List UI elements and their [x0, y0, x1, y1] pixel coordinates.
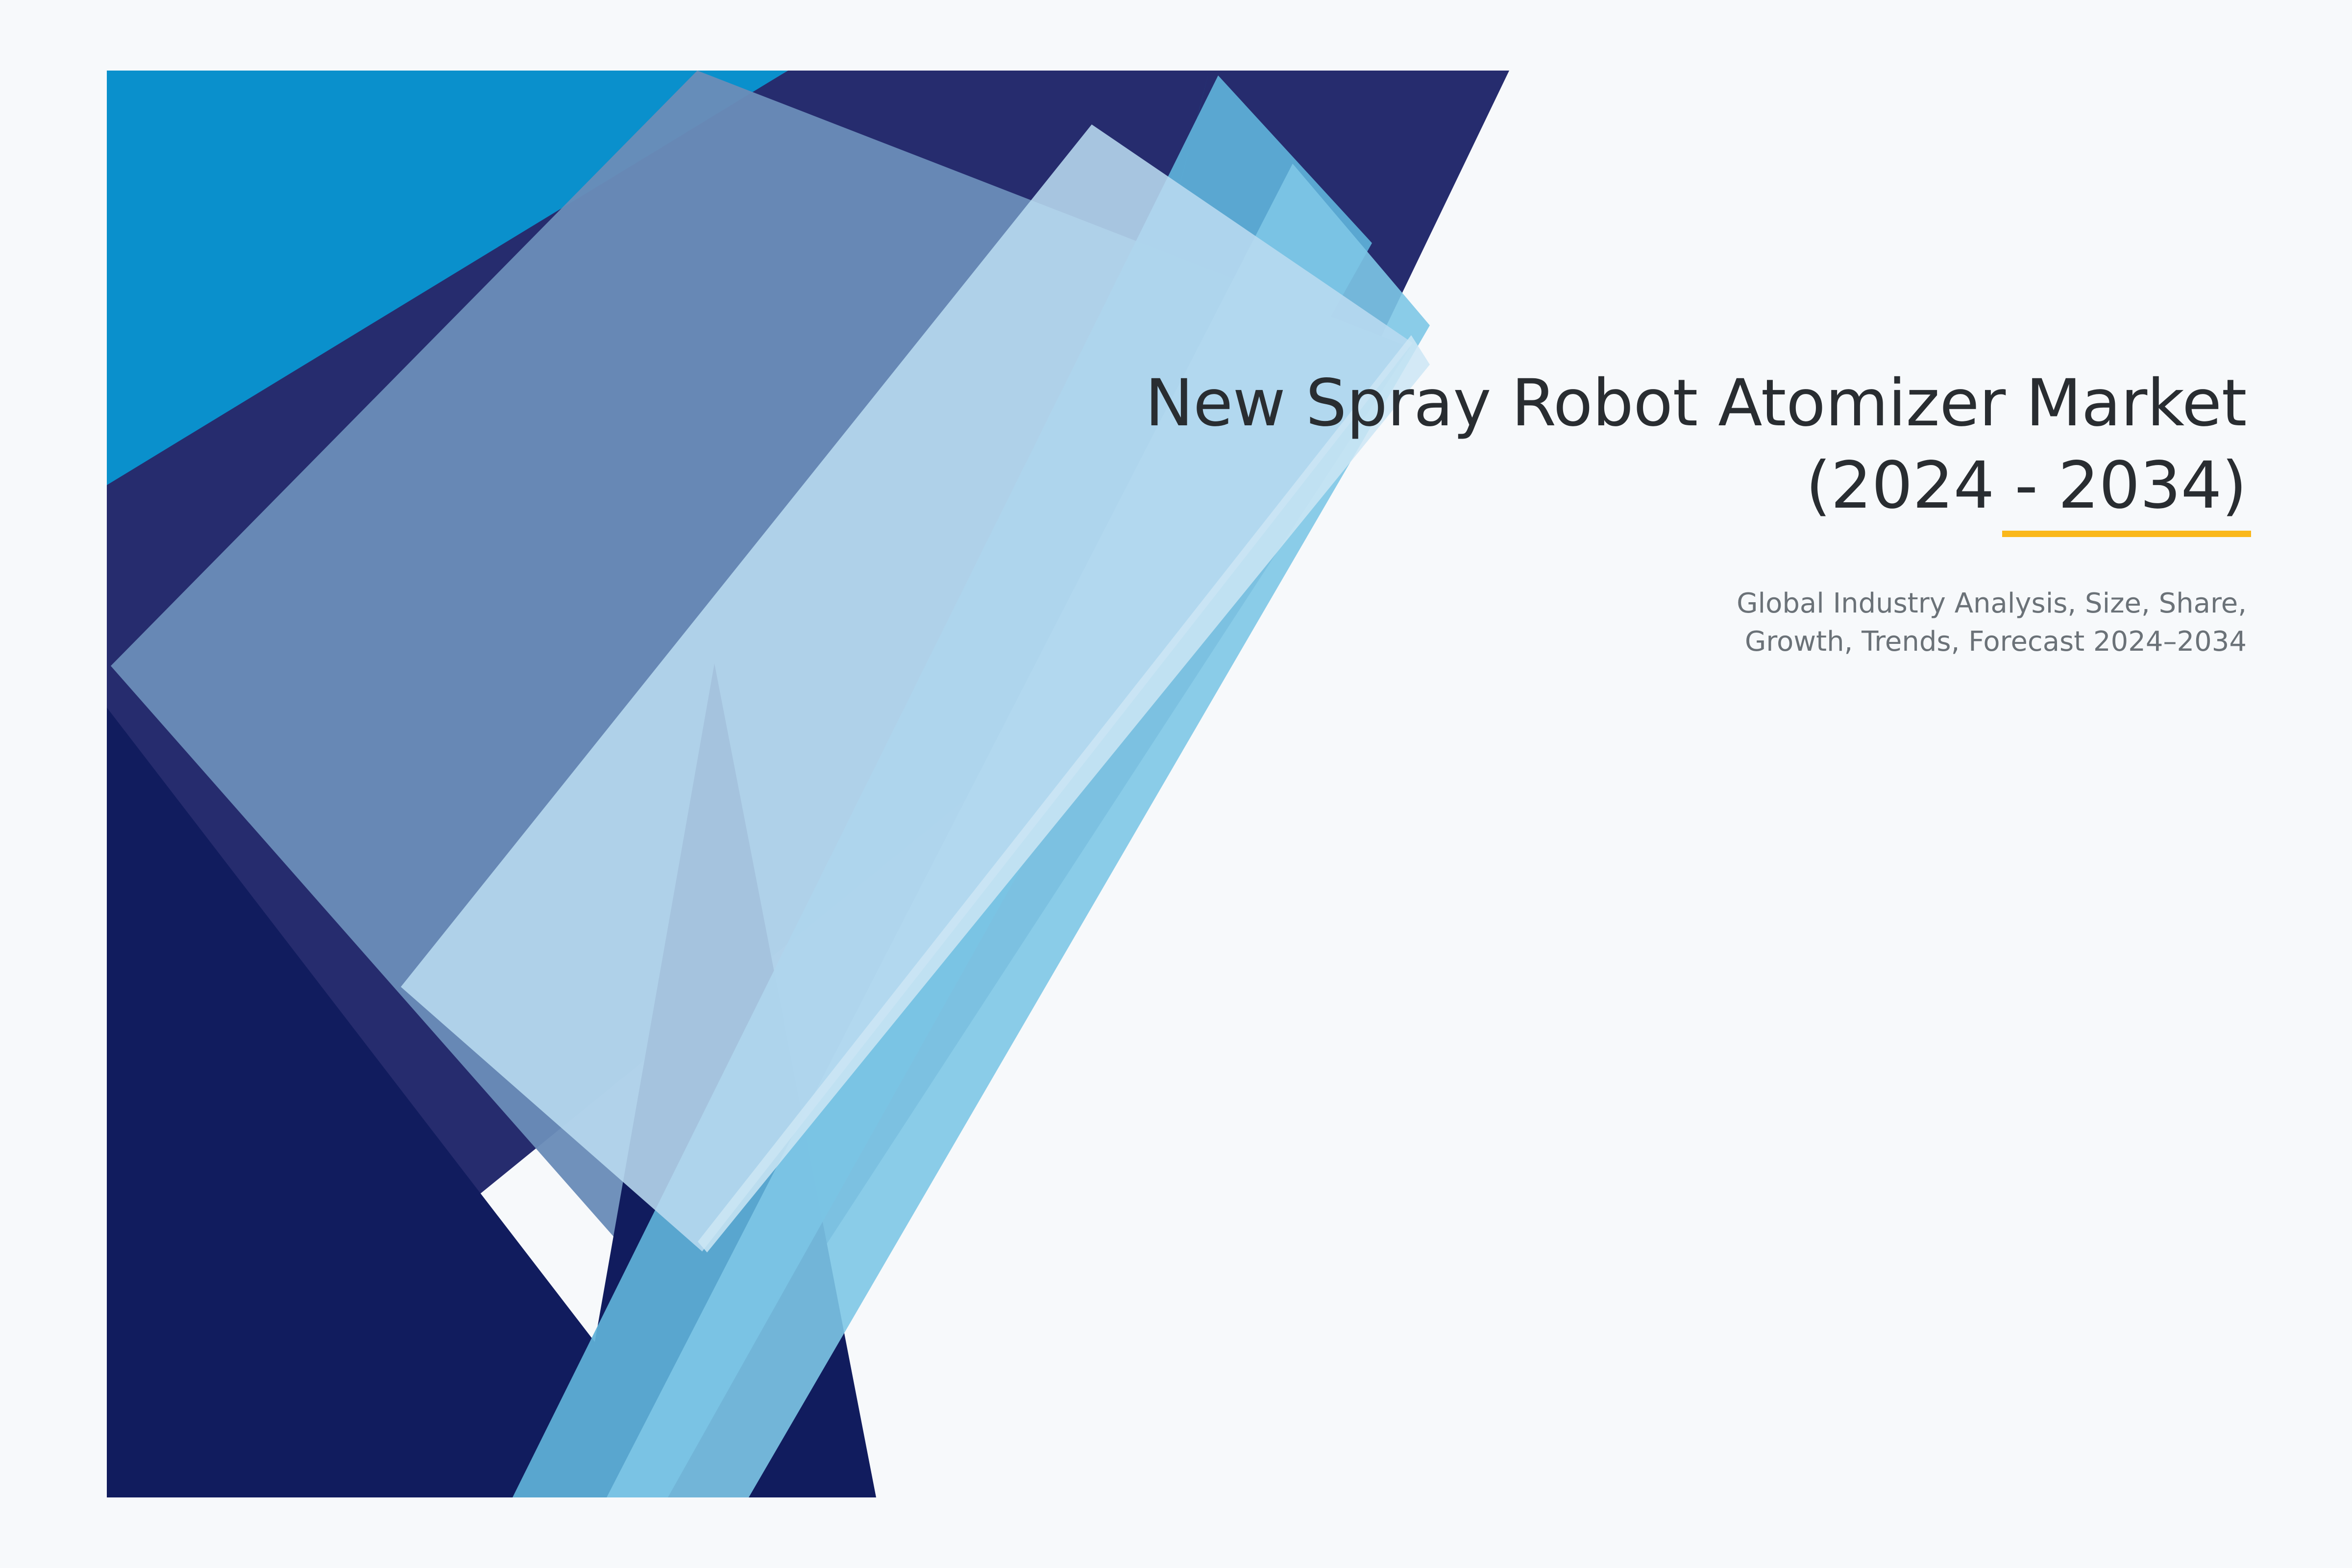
- title-accent-underline: [2002, 531, 2251, 537]
- cover-text-block: New Spray Robot Atomizer Market (2024 - …: [931, 363, 2247, 661]
- page-title: New Spray Robot Atomizer Market (2024 - …: [931, 363, 2247, 527]
- abstract-geometric-artwork: [107, 71, 1513, 1497]
- page-subtitle: Global Industry Analysis, Size, Share, G…: [931, 527, 2247, 661]
- report-cover: New Spray Robot Atomizer Market (2024 - …: [0, 0, 2352, 1568]
